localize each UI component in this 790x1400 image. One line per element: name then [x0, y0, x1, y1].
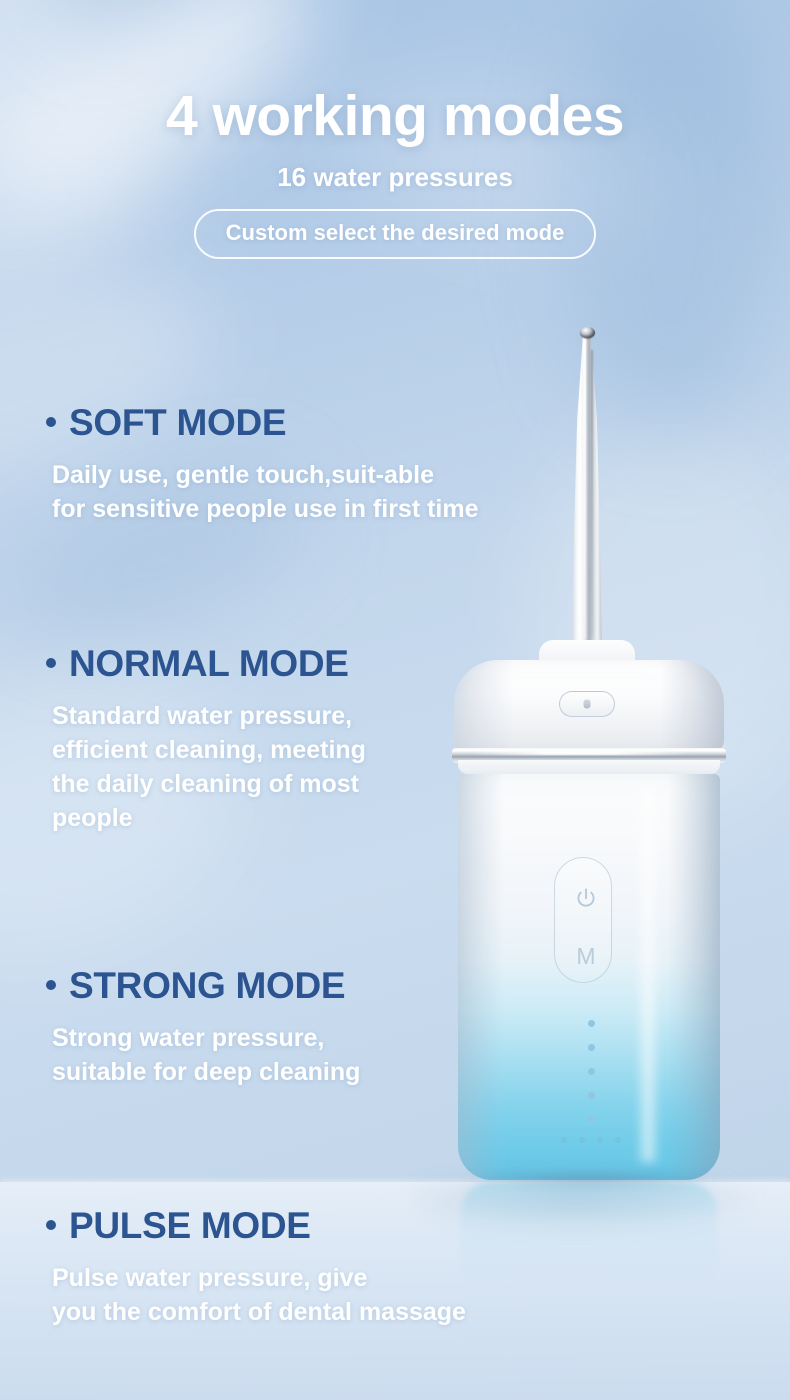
mode-description-strong: Strong water pressure, suitable for deep… — [52, 1021, 360, 1089]
nozzle-shaft — [570, 330, 604, 652]
mode-heading-normal: NORMAL MODE — [46, 643, 366, 685]
mode-description-normal: Standard water pressure, efficient clean… — [52, 699, 366, 835]
mode-block-soft: SOFT MODE Daily use, gentle touch,suit-a… — [46, 402, 479, 526]
product-feature-banner: 4 working modes 16 water pressures Custo… — [0, 0, 790, 1400]
bullet-icon — [46, 658, 56, 668]
mode-block-pulse: PULSE MODE Pulse water pressure, give yo… — [46, 1205, 466, 1329]
mode-description-line: efficient cleaning, meeting — [52, 733, 366, 767]
led-indicator — [588, 1116, 595, 1123]
mode-title: STRONG MODE — [69, 965, 345, 1007]
cap-shade-right — [660, 660, 724, 752]
body-shade-left — [458, 774, 504, 1180]
mode-heading-pulse: PULSE MODE — [46, 1205, 466, 1247]
chrome-band-gloss — [471, 751, 691, 755]
mode-title: SOFT MODE — [69, 402, 286, 444]
body-shade-right — [668, 774, 720, 1180]
led-indicator-row — [561, 1137, 627, 1144]
mode-description-line: Standard water pressure, — [52, 699, 366, 733]
bullet-icon — [46, 980, 56, 990]
device-reflection — [461, 1182, 717, 1278]
mode-block-normal: NORMAL MODE Standard water pressure, eff… — [46, 643, 366, 835]
mode-select-badge: Custom select the desired mode — [194, 209, 597, 259]
led-indicator — [588, 1092, 595, 1099]
mode-button-label[interactable]: M — [576, 945, 595, 968]
nozzle-highlight — [583, 338, 586, 638]
mode-description-line: the daily cleaning of most — [52, 767, 366, 801]
mode-description-line: Strong water pressure, — [52, 1021, 360, 1055]
led-indicator — [588, 1020, 595, 1027]
nozzle-tip — [580, 327, 595, 338]
cap-release-button[interactable] — [559, 691, 615, 717]
bullet-icon — [46, 417, 56, 427]
mode-block-strong: STRONG MODE Strong water pressure, suita… — [46, 965, 360, 1089]
cap-lip — [458, 760, 720, 774]
bullet-icon — [46, 1220, 56, 1230]
mode-description-line: Pulse water pressure, give — [52, 1261, 466, 1295]
cap-release-indicator — [584, 700, 591, 709]
power-icon[interactable] — [573, 886, 599, 912]
mode-title: PULSE MODE — [69, 1205, 311, 1247]
mode-heading-soft: SOFT MODE — [46, 402, 479, 444]
led-indicator — [588, 1044, 595, 1051]
mode-title: NORMAL MODE — [69, 643, 349, 685]
led-indicator — [588, 1068, 595, 1075]
mode-description-pulse: Pulse water pressure, give you the comfo… — [52, 1261, 466, 1329]
mode-description-line: Daily use, gentle touch,suit-able — [52, 458, 479, 492]
mode-description-line: suitable for deep cleaning — [52, 1055, 360, 1089]
cap-shade-left — [454, 660, 514, 752]
page-title: 4 working modes — [0, 88, 790, 145]
water-flosser-device: M — [441, 330, 731, 1330]
mode-heading-strong: STRONG MODE — [46, 965, 360, 1007]
nozzle-shade-line — [591, 350, 593, 635]
mode-description-soft: Daily use, gentle touch,suit-able for se… — [52, 458, 479, 526]
mode-description-line: people — [52, 801, 366, 835]
water-jet-nozzle-icon — [570, 330, 604, 652]
mode-description-line: for sensitive people use in first time — [52, 492, 479, 526]
mode-description-line: you the comfort of dental massage — [52, 1295, 466, 1329]
header: 4 working modes 16 water pressures Custo… — [0, 88, 790, 259]
body-gloss — [637, 782, 659, 1162]
page-subtitle: 16 water pressures — [0, 162, 790, 193]
